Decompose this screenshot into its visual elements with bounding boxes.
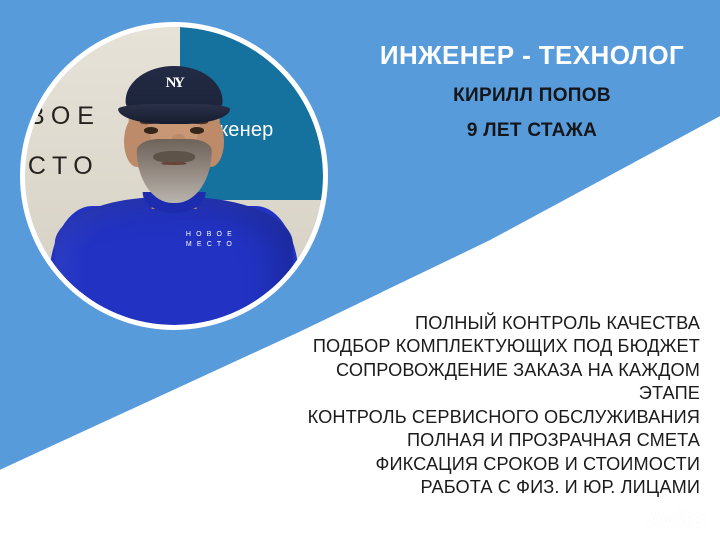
left-eye: [144, 127, 158, 134]
advertisement-poster: Инженер ВОЕ ЕСТО Н О В О Е М Е С Т О: [0, 0, 720, 540]
portrait-photo: Инженер ВОЕ ЕСТО Н О В О Е М Е С Т О: [25, 27, 323, 325]
avito-watermark: Avito: [618, 507, 706, 532]
avito-wordmark: Avito: [646, 507, 706, 532]
blue-tshirt-torso: [55, 197, 293, 325]
job-title: ИНЖЕНЕР - ТЕХНОЛОГ: [352, 40, 712, 71]
tshirt-logo-line2: М Е С Т О: [186, 241, 233, 248]
ny-logo-icon: NY: [166, 75, 183, 92]
service-item: ПОЛНЫЙ КОНТРОЛЬ КАЧЕСТВА: [270, 312, 700, 335]
service-item: ПОЛНАЯ И ПРОЗРАЧНАЯ СМЕТА: [270, 429, 700, 452]
service-item: КОНТРОЛЬ СЕРВИСНОГО ОБСЛУЖИВАНИЯ: [270, 406, 700, 429]
header-text-block: ИНЖЕНЕР - ТЕХНОЛОГ КИРИЛЛ ПОПОВ 9 ЛЕТ СТ…: [352, 40, 712, 142]
avito-dots-icon: [618, 509, 643, 531]
service-item: ФИКСАЦИЯ СРОКОВ И СТОИМОСТИ: [270, 453, 700, 476]
services-list: ПОЛНЫЙ КОНТРОЛЬ КАЧЕСТВАПОДБОР КОМПЛЕКТУ…: [270, 312, 700, 500]
person-name: КИРИЛЛ ПОПОВ: [352, 85, 712, 107]
person-figure: Н О В О Е М Е С Т О NY: [25, 27, 323, 325]
tshirt-logo-line1: Н О В О Е: [186, 231, 233, 238]
service-item: СОПРОВОЖДЕНИЕ ЗАКАЗА НА КАЖДОМ ЭТАПЕ: [270, 359, 700, 406]
experience-years: 9 ЛЕТ СТАЖА: [352, 120, 712, 142]
service-item: ПОДБОР КОМПЛЕКТУЮЩИХ ПОД БЮДЖЕТ: [270, 335, 700, 358]
service-item: РАБОТА С ФИЗ. И ЮР. ЛИЦАМИ: [270, 476, 700, 499]
portrait-circle-frame: Инженер ВОЕ ЕСТО Н О В О Е М Е С Т О: [20, 22, 328, 330]
tshirt-logo: Н О В О Е М Е С Т О: [186, 230, 233, 251]
right-eye: [190, 127, 204, 134]
